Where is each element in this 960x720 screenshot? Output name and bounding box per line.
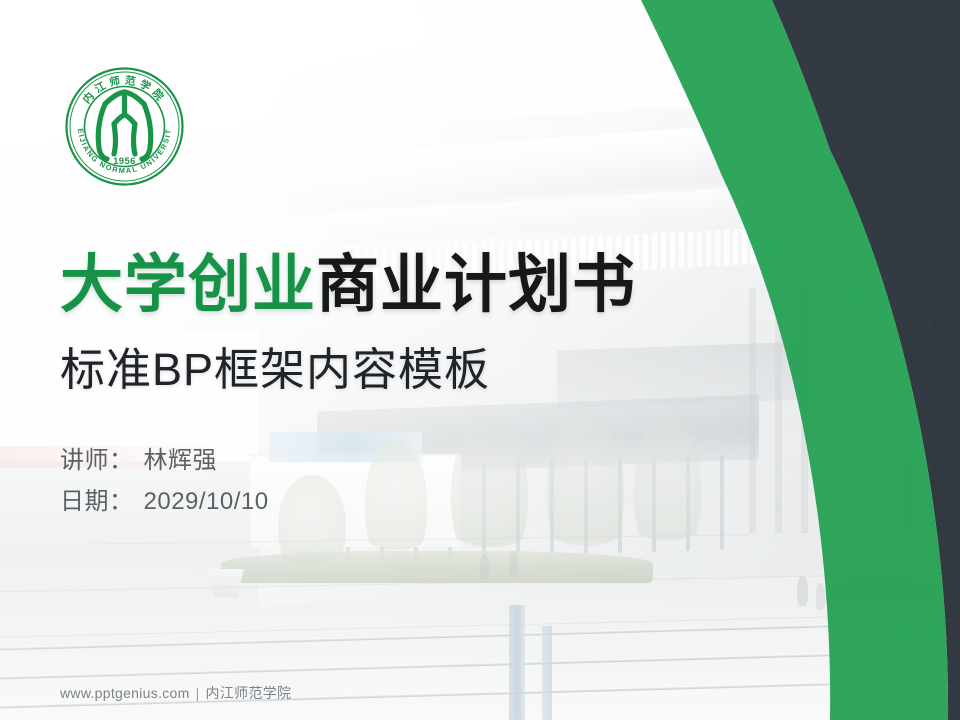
university-logo: 1956 内江师范学院 NEIJIANG NORMAL UNIVERSITY (64, 66, 185, 187)
slide-subtitle: 标准BP框架内容模板 (60, 345, 490, 395)
presentation-cover-slide: 1956 内江师范学院 NEIJIANG NORMAL UNIVERSITY 大… (0, 0, 960, 720)
footer-site[interactable]: www.pptgenius.com (60, 685, 190, 701)
date-value: 2029/10/10 (144, 481, 269, 522)
footer-separator: | (196, 685, 200, 701)
presenter-value: 林辉强 (144, 440, 218, 481)
presenter-row: 讲师：林辉强 (60, 440, 269, 481)
date-label: 日期： (60, 481, 134, 522)
title-highlight: 大学创业 (60, 250, 316, 320)
presenter-label: 讲师： (60, 440, 134, 481)
presentation-meta: 讲师：林辉强 日期：2029/10/10 (60, 440, 269, 523)
date-row: 日期：2029/10/10 (60, 481, 269, 522)
title-rest: 商业计划书 (316, 250, 636, 320)
footer-organization: 内江师范学院 (206, 685, 292, 701)
slide-title: 大学创业商业计划书 (60, 252, 636, 318)
slide-footer: www.pptgenius.com|内江师范学院 (60, 683, 291, 703)
